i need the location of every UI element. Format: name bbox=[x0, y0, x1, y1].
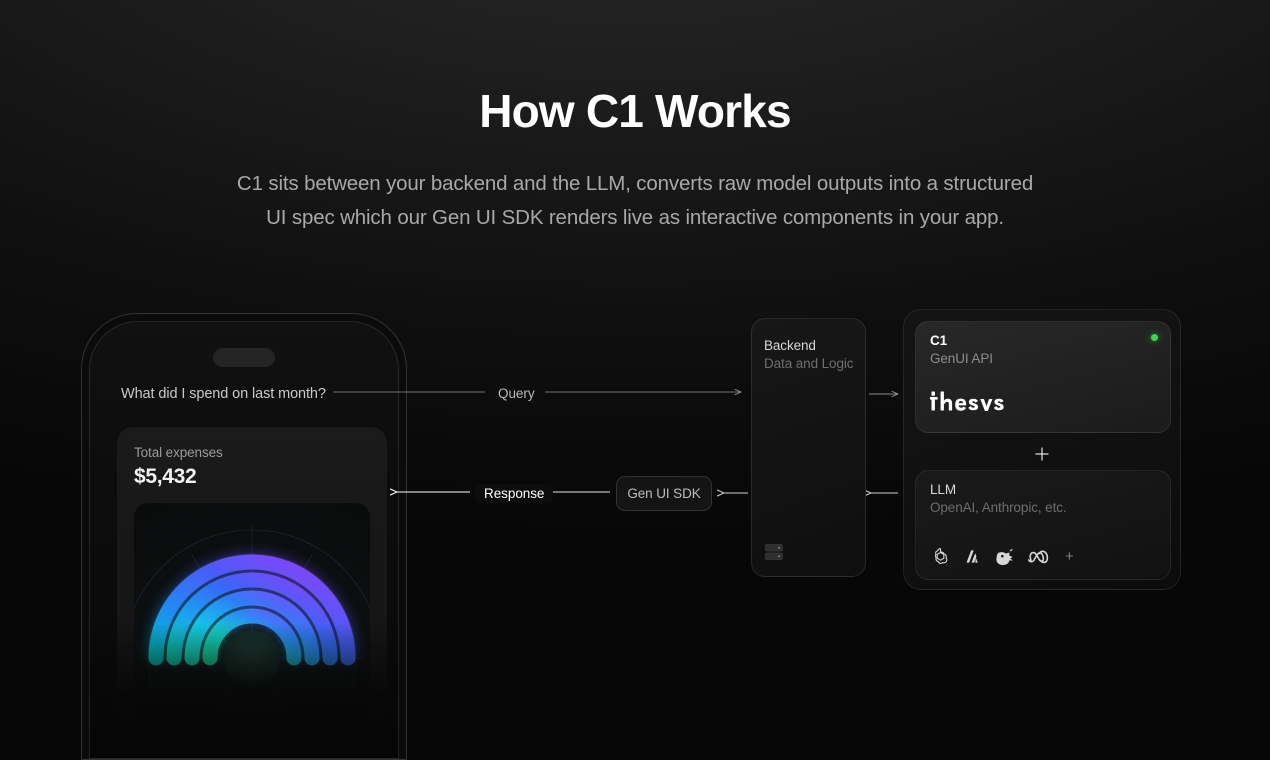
llm-subtitle: OpenAI, Anthropic, etc. bbox=[930, 500, 1067, 515]
c1-llm-stack: C1 GenUI API bbox=[903, 309, 1181, 590]
page-title: How C1 Works bbox=[0, 88, 1270, 134]
backend-subtitle: Data and Logic bbox=[764, 356, 853, 371]
llm-more-providers-label[interactable]: + bbox=[1065, 549, 1074, 564]
c1-title: C1 bbox=[930, 333, 947, 348]
page-subtitle: C1 sits between your backend and the LLM… bbox=[0, 167, 1270, 235]
expense-card: Total expenses $5,432 bbox=[117, 427, 387, 757]
plus-icon bbox=[1034, 446, 1050, 462]
genui-sdk-label: Gen UI SDK bbox=[627, 486, 700, 501]
flow-label-response: Response bbox=[475, 484, 553, 503]
llm-title: LLM bbox=[930, 482, 956, 497]
phone-query-text: What did I spend on last month? bbox=[121, 386, 326, 402]
status-dot-online-icon bbox=[1151, 334, 1158, 341]
c1-card[interactable]: C1 GenUI API bbox=[915, 321, 1171, 433]
expense-value: $5,432 bbox=[134, 465, 196, 489]
backend-card[interactable]: Backend Data and Logic bbox=[751, 318, 866, 577]
radial-arc-chart bbox=[134, 503, 370, 745]
radial-chart-panel bbox=[134, 503, 370, 745]
c1-subtitle: GenUI API bbox=[930, 351, 993, 366]
openai-logo-icon bbox=[930, 546, 951, 567]
phone-screen: What did I spend on last month? Total ex… bbox=[89, 321, 399, 759]
phone-mockup: What did I spend on last month? Total ex… bbox=[81, 313, 407, 760]
anthropic-logo-icon bbox=[962, 546, 983, 567]
page-subtitle-line-1: C1 sits between your backend and the LLM… bbox=[0, 167, 1270, 201]
expense-label: Total expenses bbox=[134, 445, 223, 460]
genui-sdk-button[interactable]: Gen UI SDK bbox=[616, 476, 712, 511]
dynamic-island-icon bbox=[213, 348, 275, 367]
meta-logo-icon bbox=[1028, 548, 1053, 566]
deepseek-whale-logo-icon bbox=[994, 546, 1017, 567]
llm-card[interactable]: LLM OpenAI, Anthropic, etc. bbox=[915, 470, 1171, 580]
page-subtitle-line-2: UI spec which our Gen UI SDK renders liv… bbox=[0, 201, 1270, 235]
backend-title: Backend bbox=[764, 338, 816, 353]
server-rack-icon bbox=[765, 543, 784, 562]
llm-provider-logos: + bbox=[930, 546, 1074, 567]
header: How C1 Works C1 sits between your backen… bbox=[0, 0, 1270, 235]
diagram-stage: How C1 Works C1 sits between your backen… bbox=[0, 0, 1270, 760]
flow-label-query: Query bbox=[489, 384, 544, 403]
thesys-brand-logo bbox=[930, 391, 1008, 411]
